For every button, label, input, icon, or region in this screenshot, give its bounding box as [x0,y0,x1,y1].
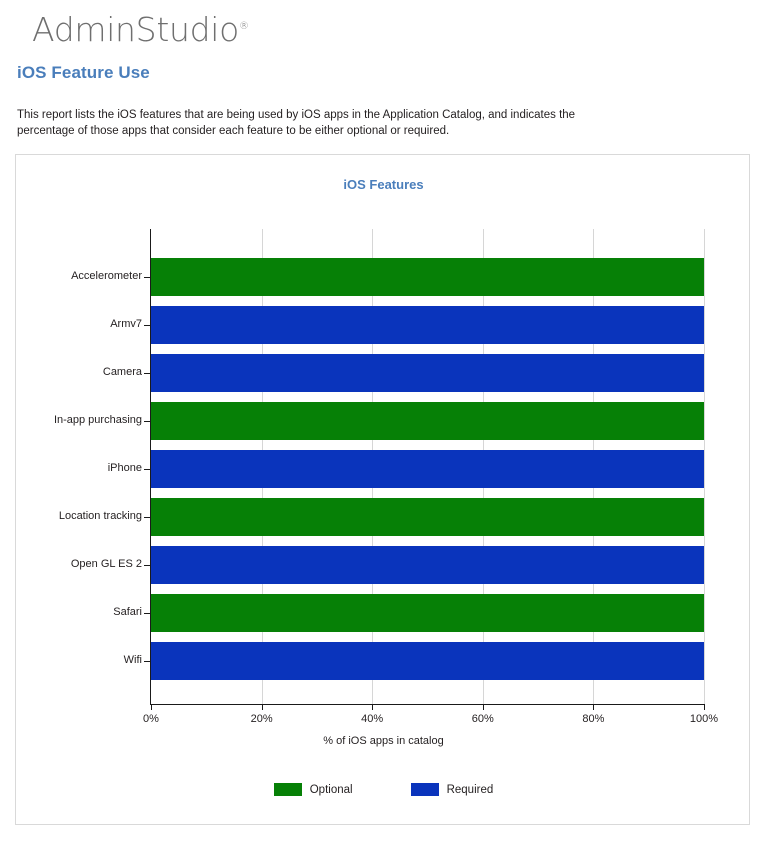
legend-swatch-required [411,783,439,796]
x-tick [151,704,152,710]
legend-swatch-optional [274,783,302,796]
gridline-100 [704,229,705,704]
y-axis-label-iphone: iPhone [16,462,142,474]
page-title: iOS Feature Use [17,63,150,83]
legend-entry-optional[interactable]: Optional [274,783,353,796]
report-description: This report lists the iOS features that … [17,107,617,139]
y-tick [144,613,151,614]
x-axis-label-40: 40% [337,713,407,725]
y-tick [144,565,151,566]
y-axis-label-wifi: Wifi [16,654,142,666]
bar-row [151,450,704,488]
adminstudio-logo: AdminStudio® [32,10,249,49]
y-tick [144,421,151,422]
chart-card: iOS Features AccelerometerArmv7CameraIn-… [15,154,750,825]
y-axis-label-location-tracking: Location tracking [16,510,142,522]
x-tick [593,704,594,710]
bar-safari[interactable] [151,594,704,632]
bar-row [151,642,704,680]
bar-camera[interactable] [151,354,704,392]
y-axis-label-accelerometer: Accelerometer [16,270,142,282]
chart-legend: OptionalRequired [16,783,751,796]
y-tick [144,325,151,326]
y-tick [144,661,151,662]
legend-entry-required[interactable]: Required [411,783,494,796]
y-tick [144,373,151,374]
x-axis-label-100: 100% [669,713,739,725]
brand-name: AdminStudio [32,10,239,49]
bar-row [151,306,704,344]
bar-in-app-purchasing[interactable] [151,402,704,440]
y-axis-label-armv7: Armv7 [16,318,142,330]
bar-row [151,402,704,440]
chart-title: iOS Features [16,177,751,192]
x-axis-label-80: 80% [558,713,628,725]
bar-open-gl-es-2[interactable] [151,546,704,584]
bar-row [151,498,704,536]
x-axis-label-20: 20% [227,713,297,725]
y-tick [144,277,151,278]
y-tick [144,469,151,470]
registered-trademark-icon: ® [239,21,249,32]
x-axis-title: % of iOS apps in catalog [16,735,751,747]
legend-label-required: Required [447,784,494,796]
x-tick [483,704,484,710]
x-axis-label-60: 60% [448,713,518,725]
x-tick [704,704,705,710]
x-tick [262,704,263,710]
legend-label-optional: Optional [310,784,353,796]
y-tick [144,517,151,518]
bar-iphone[interactable] [151,450,704,488]
y-axis-label-camera: Camera [16,366,142,378]
bar-location-tracking[interactable] [151,498,704,536]
bar-armv7[interactable] [151,306,704,344]
bar-row [151,546,704,584]
bar-accelerometer[interactable] [151,258,704,296]
x-axis-line [151,704,705,705]
bar-row [151,594,704,632]
bar-row [151,354,704,392]
y-axis-label-open-gl-es-2: Open GL ES 2 [16,558,142,570]
bar-wifi[interactable] [151,642,704,680]
y-axis-label-safari: Safari [16,606,142,618]
x-axis-label-0: 0% [116,713,186,725]
bar-row [151,258,704,296]
x-tick [372,704,373,710]
y-axis-label-in-app-purchasing: In-app purchasing [16,414,142,426]
